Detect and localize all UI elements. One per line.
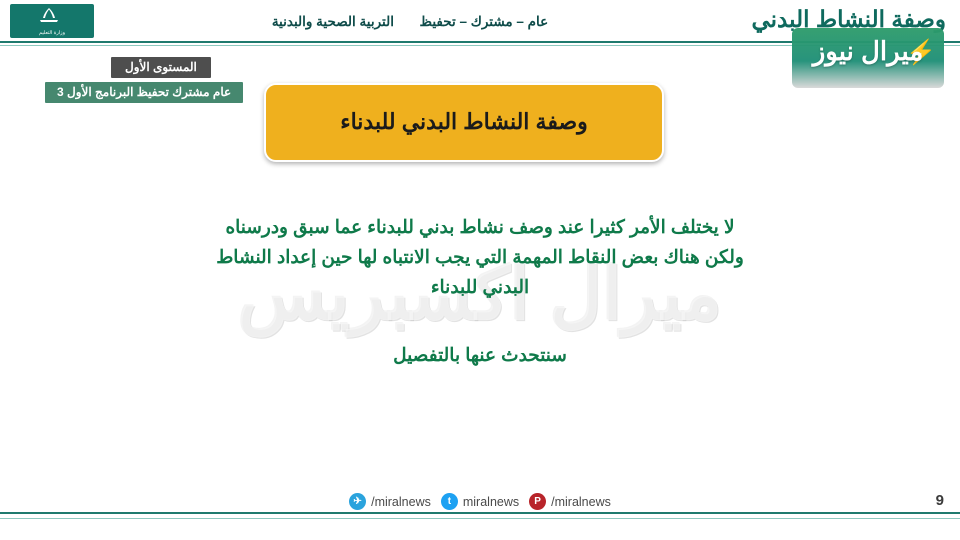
social-item-pinterest[interactable]: P /miralnews bbox=[529, 493, 611, 510]
social-handle-twitter: miralnews bbox=[463, 495, 519, 509]
body-line-2: ولكن هناك بعض النقاط المهمة التي يجب الا… bbox=[150, 242, 810, 272]
body-line-1: لا يختلف الأمر كثيرا عند وصف نشاط بدني ل… bbox=[150, 212, 810, 242]
body-line-3: البدني للبدناء bbox=[150, 272, 810, 302]
header-divider bbox=[0, 41, 960, 43]
social-item-telegram[interactable]: ✈ /miralnews bbox=[349, 493, 431, 510]
footer-social-row: ✈ /miralnews t miralnews P /miralnews bbox=[0, 493, 960, 510]
social-handle-telegram: /miralnews bbox=[371, 495, 431, 509]
ministry-logo: وزارة التعليم bbox=[10, 4, 94, 38]
pinterest-icon: P bbox=[529, 493, 546, 510]
body-paragraph-2: سنتحدث عنها بالتفصيل bbox=[150, 340, 810, 370]
slide-canvas: وزارة التعليم عام – مشترك – تحفيظ التربي… bbox=[0, 0, 960, 540]
header-subject-title: وصفة النشاط البدني bbox=[751, 6, 946, 33]
ministry-logo-label: وزارة التعليم bbox=[10, 30, 94, 36]
slide-title-box: وصفة النشاط البدني للبدناء bbox=[264, 83, 664, 162]
social-handle-pinterest: /miralnews bbox=[551, 495, 611, 509]
program-tag: عام مشترك تحفيظ البرنامج الأول 3 bbox=[45, 82, 243, 103]
social-item-twitter[interactable]: t miralnews bbox=[441, 493, 519, 510]
telegram-icon: ✈ bbox=[349, 493, 366, 510]
page-number: 9 bbox=[936, 492, 944, 509]
slide-body: لا يختلف الأمر كثيرا عند وصف نشاط بدني ل… bbox=[150, 212, 810, 370]
header-divider-thin bbox=[0, 45, 960, 46]
breadcrumb-right: التربية الصحية والبدنية bbox=[272, 14, 394, 29]
slide-title: وصفة النشاط البدني للبدناء bbox=[340, 109, 588, 135]
footer-divider bbox=[0, 512, 960, 514]
level-tag: المستوى الأول bbox=[111, 57, 211, 78]
twitter-icon: t bbox=[441, 493, 458, 510]
header-breadcrumb: عام – مشترك – تحفيظ التربية الصحية والبد… bbox=[200, 14, 620, 30]
breadcrumb-left: عام – مشترك – تحفيظ bbox=[420, 14, 549, 29]
palm-swords-icon bbox=[36, 7, 62, 25]
footer-divider-thin bbox=[0, 518, 960, 519]
